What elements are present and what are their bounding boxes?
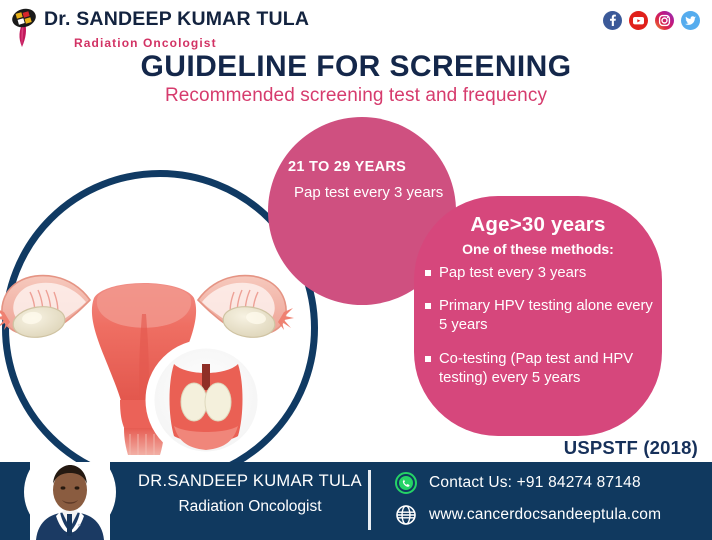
- brand-subtitle: Radiation Oncologist: [74, 36, 217, 50]
- website-row[interactable]: www.cancerdocsandeeptula.com: [395, 504, 661, 526]
- list-item: Primary HPV testing alone every 5 years: [424, 297, 660, 335]
- contact-text: Contact Us: +91 84274 87148: [429, 474, 641, 492]
- globe-icon: [395, 504, 417, 526]
- facebook-icon[interactable]: [603, 11, 622, 30]
- footer-doctor-name: DR.SANDEEP KUMAR TULA: [135, 472, 365, 491]
- brand-text: Dr. SANDEEP KUMAR TULA: [44, 6, 309, 30]
- age-21-29-heading: 21 TO 29 YEARS: [288, 159, 448, 175]
- instagram-icon[interactable]: [655, 11, 674, 30]
- age-30-plus-subheading: One of these methods:: [414, 241, 662, 257]
- contact-row[interactable]: Contact Us: +91 84274 87148: [395, 472, 641, 494]
- age-21-29-body: Pap test every 3 years: [294, 182, 444, 204]
- list-item: Pap test every 3 years: [424, 264, 660, 283]
- infographic-poster: Dr. SANDEEP KUMAR TULA Radiation Oncolog…: [0, 0, 712, 540]
- whatsapp-icon: [395, 472, 417, 494]
- header: Dr. SANDEEP KUMAR TULA Radiation Oncolog…: [0, 0, 712, 52]
- uterus-illustration: [0, 240, 294, 455]
- footer-bar: DR.SANDEEP KUMAR TULA Radiation Oncologi…: [0, 462, 712, 540]
- clinic-logo-icon: [10, 6, 40, 48]
- age-30-plus-heading: Age>30 years: [414, 213, 662, 237]
- footer-doctor-role: Radiation Oncologist: [135, 498, 365, 516]
- brand-name: Dr. SANDEEP KUMAR TULA: [44, 10, 309, 30]
- age-30-plus-panel: Age>30 years One of these methods: Pap t…: [414, 196, 662, 436]
- avatar: [30, 462, 110, 540]
- page-title: GUIDELINE FOR SCREENING: [0, 50, 712, 84]
- social-links: [603, 11, 700, 30]
- source-citation: USPSTF (2018): [564, 437, 698, 459]
- website-text: www.cancerdocsandeeptula.com: [429, 506, 661, 524]
- age-30-plus-method-list: Pap test every 3 years Primary HPV testi…: [424, 264, 660, 402]
- youtube-icon[interactable]: [629, 11, 648, 30]
- footer-divider: [368, 470, 371, 530]
- page-subtitle: Recommended screening test and frequency: [0, 85, 712, 107]
- list-item: Co-testing (Pap test and HPV testing) ev…: [424, 350, 660, 388]
- twitter-icon[interactable]: [681, 11, 700, 30]
